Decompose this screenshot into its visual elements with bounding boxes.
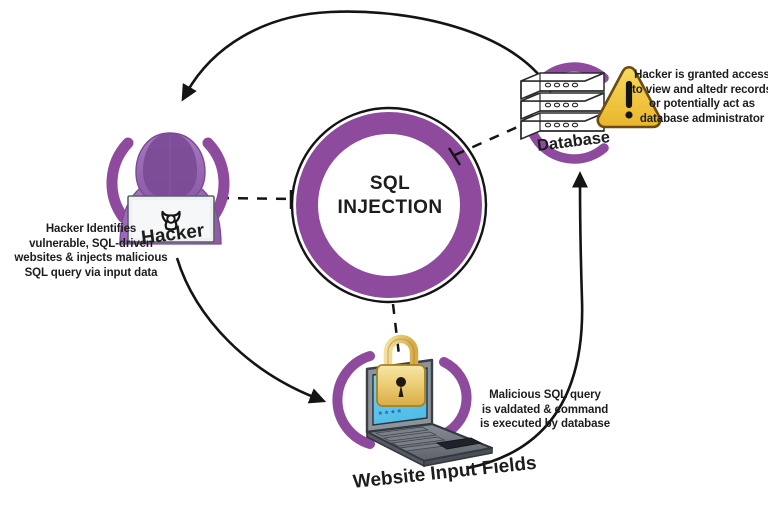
laptop-arc-left xyxy=(337,356,370,444)
arrow-hacker-to-website xyxy=(177,258,316,398)
diagram-canvas: * * * * * * * * * * * * * * * * * * xyxy=(0,0,768,512)
caption-database: Hacker is granted access to view and alt… xyxy=(630,68,768,126)
laptop-padlock-icon: * * * * * * * * * * * * * * * * * * xyxy=(337,339,492,466)
caption-hacker: Hacker Identifies vulnerable, SQL-driven… xyxy=(0,222,186,280)
center-title: SQL INJECTION xyxy=(300,172,480,220)
dash-hacker-to-center xyxy=(219,198,291,199)
arrow-database-to-hacker xyxy=(187,12,551,92)
dash-center-to-website xyxy=(393,304,399,355)
hacker-arc-left xyxy=(112,143,128,217)
padlock-icon xyxy=(377,339,425,406)
laptop-arc-right xyxy=(444,362,467,434)
caption-website-input-fields: Malicious SQL query is valdated & comman… xyxy=(470,388,620,432)
